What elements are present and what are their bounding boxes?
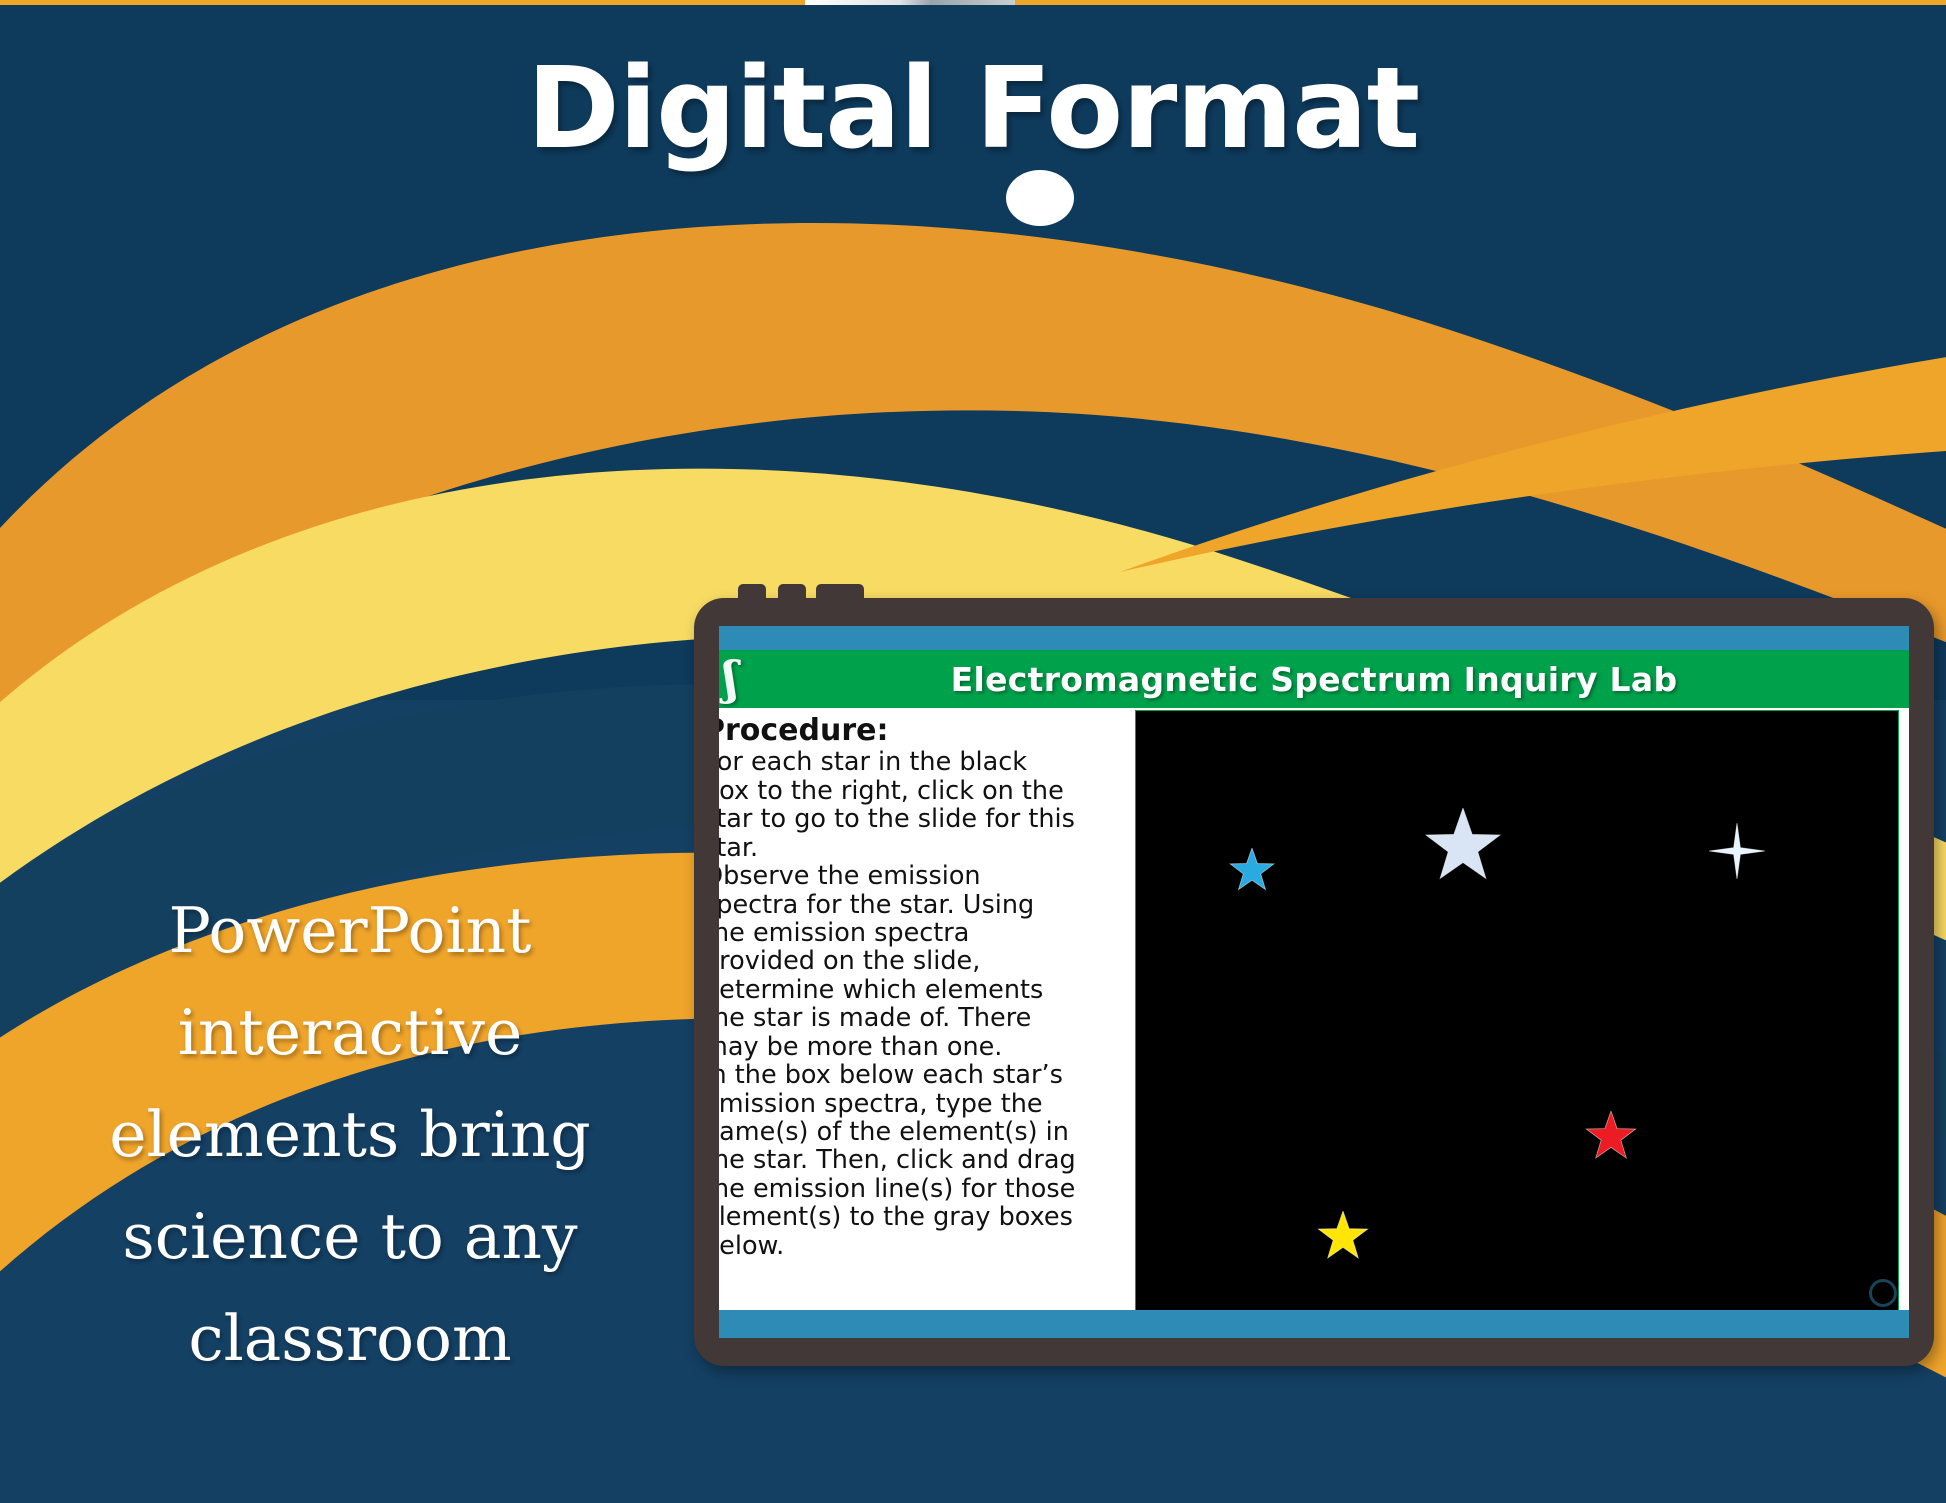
blurb-line: interactive: [20, 982, 680, 1084]
star-cyan[interactable]: [1229, 848, 1275, 894]
slide-corner-mark-icon: [1869, 1279, 1897, 1307]
procedure-paragraph: For each star in the black box to the ri…: [719, 748, 1081, 862]
slide-header-swirl-icon: ʃ: [723, 654, 745, 702]
tablet-button-volume-down[interactable]: [778, 584, 806, 606]
slide-top-accent-strip: [719, 626, 1909, 650]
star-white-spark[interactable]: [1709, 823, 1765, 879]
star-white-blue[interactable]: [1424, 808, 1502, 886]
slide-canvas: Digital Format PowerPoint interactive el…: [0, 0, 1946, 1503]
top-accent-rule-gap: [805, 0, 1015, 5]
tablet-button-power[interactable]: [816, 584, 864, 606]
blurb-line: PowerPoint: [20, 880, 680, 982]
feature-blurb: PowerPoint interactive elements bring sc…: [20, 880, 680, 1390]
tablet-button-volume-up[interactable]: [738, 584, 766, 606]
slide-bottom-accent-strip: [719, 1310, 1909, 1338]
procedure-paragraph: Observe the emission spectra for the sta…: [719, 862, 1081, 1061]
star-red[interactable]: [1585, 1111, 1637, 1163]
blurb-line: classroom: [20, 1288, 680, 1390]
procedure-paragraph: In the box below each star’s emission sp…: [719, 1061, 1081, 1260]
starfield-box[interactable]: [1135, 710, 1899, 1312]
star-yellow[interactable]: [1317, 1211, 1369, 1263]
procedure-text-block: Procedure: For each star in the black bo…: [719, 714, 1081, 1260]
procedure-heading: Procedure:: [719, 714, 1081, 747]
tablet-device-mockup: ʃ Electromagnetic Spectrum Inquiry Lab P…: [694, 598, 1934, 1366]
slide-header-bar: ʃ Electromagnetic Spectrum Inquiry Lab: [719, 650, 1909, 708]
blurb-line: elements bring: [20, 1084, 680, 1186]
page-title: Digital Format: [0, 44, 1946, 174]
decorative-dot: [1006, 170, 1074, 226]
blurb-line: science to any: [20, 1186, 680, 1288]
slide-header-title: Electromagnetic Spectrum Inquiry Lab: [951, 660, 1678, 699]
tablet-screen: ʃ Electromagnetic Spectrum Inquiry Lab P…: [719, 626, 1909, 1338]
slide-body: Procedure: For each star in the black bo…: [719, 708, 1909, 1310]
